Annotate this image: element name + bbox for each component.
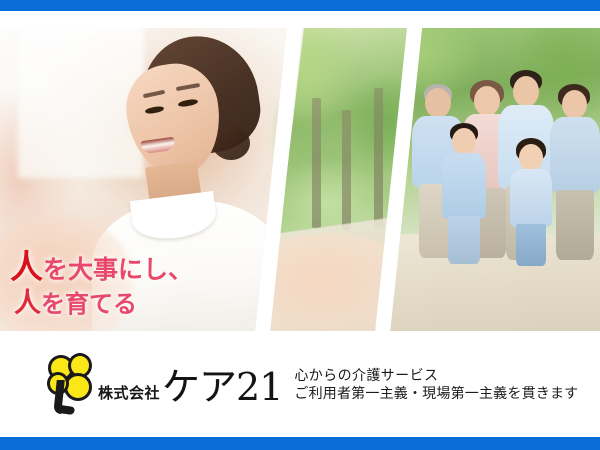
tagline-block: 心からの介護サービス ご利用者第一主義・現場第一主義を貫きます — [294, 367, 578, 404]
tree-trunk-1 — [312, 98, 321, 228]
hero-caption-left-line1-rest: を大事にし、 — [43, 255, 193, 284]
care21-butterfly-icon[interactable] — [46, 353, 102, 415]
bottom-accent-bar — [0, 437, 600, 450]
tagline-line-1: 心からの介護サービス — [294, 367, 578, 385]
brand-name: ケア21 — [162, 356, 282, 411]
company-type-label: 株式会社 — [98, 382, 160, 403]
hero-caption-left-line2-rest: を育てる — [41, 290, 137, 318]
window-light — [18, 28, 144, 178]
hero-caption-left-line2: 人を育てる — [14, 290, 137, 317]
tree-trunk-2 — [342, 110, 351, 230]
hero-caption-left-line2-kanji: 人 — [14, 288, 41, 319]
hero-caption-left-line1: 人を大事にし、 — [10, 250, 193, 283]
page-root: 人を大事にし、 人を育てる 私たち「ケア21メディカル」は 平等な目線を持って、… — [0, 0, 600, 450]
tagline-line-2: ご利用者第一主義・現場第一主義を貫きます — [294, 385, 578, 403]
hero-photo-family[interactable] — [388, 28, 600, 331]
top-accent-bar — [0, 0, 600, 11]
logo-row[interactable]: 株式会社 ケア21 心からの介護サービス ご利用者第一主義・現場第一主義を貫きま… — [0, 348, 600, 420]
hero-caption-left-line1-kanji: 人 — [10, 247, 43, 286]
hero-banner[interactable]: 人を大事にし、 人を育てる 私たち「ケア21メディカル」は 平等な目線を持って、… — [0, 28, 600, 331]
tree-trunk-3 — [374, 88, 383, 228]
